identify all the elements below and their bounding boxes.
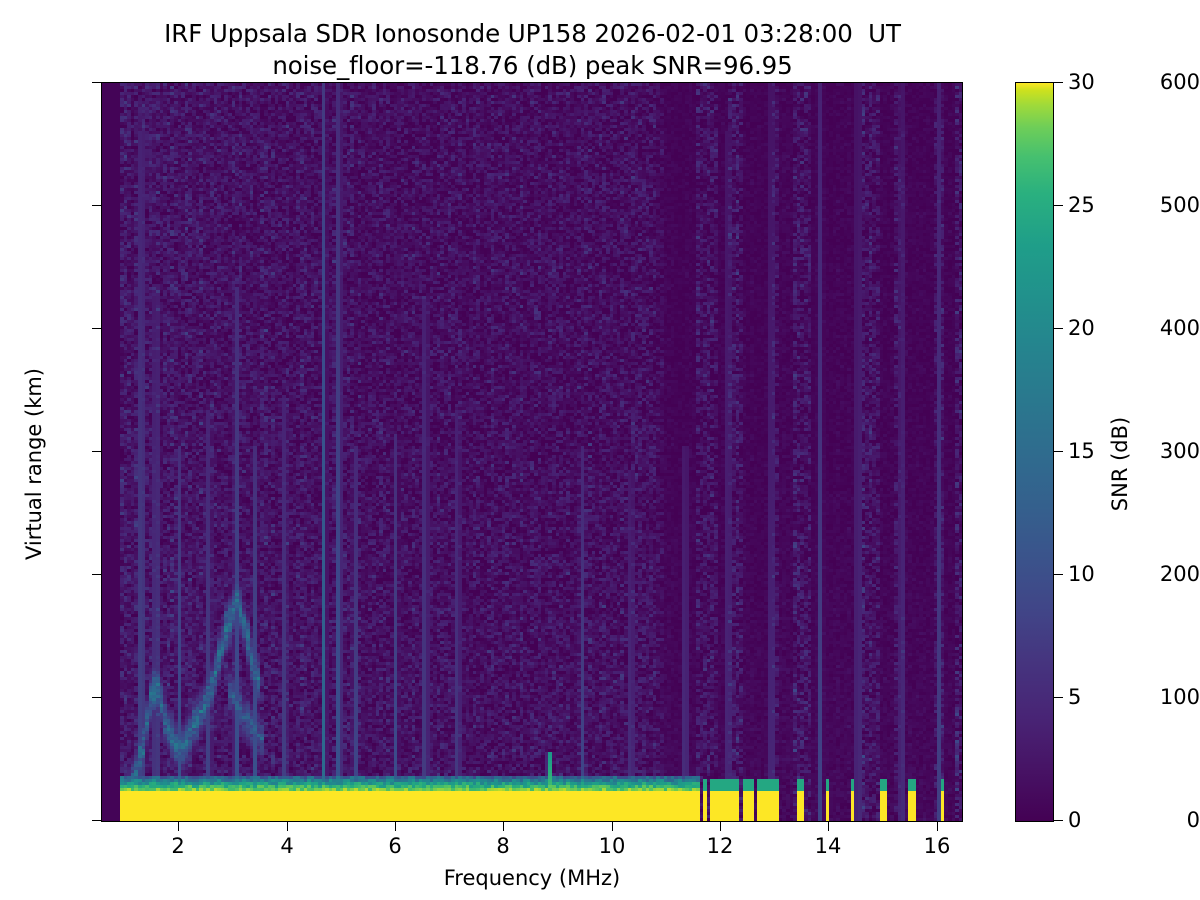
y-tick-400 [92, 328, 101, 329]
colorbar-tick-25 [1054, 205, 1063, 206]
ionogram-heatmap [102, 83, 962, 821]
x-tick-2 [178, 822, 179, 831]
y-tick-label-400: 400 [1138, 318, 1200, 339]
colorbar-label-0: 0 [1068, 810, 1128, 831]
y-axis-label: Virtual range (km) [22, 364, 46, 564]
x-tick-16 [937, 822, 938, 831]
colorbar-tick-0 [1054, 820, 1063, 821]
ionogram-figure: IRF Uppsala SDR Ionosonde UP158 2026-02-… [0, 0, 1200, 900]
colorbar-label-20: 20 [1068, 318, 1128, 339]
colorbar-axis-label: SNR (dB) [1108, 354, 1132, 574]
y-tick-label-300: 300 [1138, 441, 1200, 462]
y-tick-label-0: 0 [1138, 810, 1200, 831]
y-tick-0 [92, 820, 101, 821]
y-tick-label-600: 600 [1138, 72, 1200, 93]
x-tick-10 [612, 822, 613, 831]
x-tick-label-4: 4 [257, 836, 317, 857]
x-tick-label-14: 14 [798, 836, 858, 857]
x-tick-6 [395, 822, 396, 831]
y-tick-label-200: 200 [1138, 564, 1200, 585]
colorbar-tick-15 [1054, 451, 1063, 452]
colorbar-label-5: 5 [1068, 687, 1128, 708]
title-line-secondary: noise_floor=-118.76 (dB) peak SNR=96.95 [0, 50, 1065, 82]
x-tick-label-2: 2 [148, 836, 208, 857]
y-tick-label-500: 500 [1138, 195, 1200, 216]
title-line-primary: IRF Uppsala SDR Ionosonde UP158 2026-02-… [0, 18, 1065, 50]
y-tick-600 [92, 82, 101, 83]
x-tick-label-16: 16 [907, 836, 967, 857]
y-tick-200 [92, 574, 101, 575]
x-tick-label-6: 6 [365, 836, 425, 857]
colorbar-tick-5 [1054, 697, 1063, 698]
x-tick-label-8: 8 [473, 836, 533, 857]
x-tick-label-10: 10 [582, 836, 642, 857]
x-axis-label: Frequency (MHz) [101, 866, 963, 890]
colorbar-label-30: 30 [1068, 72, 1128, 93]
y-tick-500 [92, 205, 101, 206]
x-tick-12 [720, 822, 721, 831]
x-tick-14 [828, 822, 829, 831]
y-tick-300 [92, 451, 101, 452]
colorbar-tick-30 [1054, 82, 1063, 83]
colorbar-tick-20 [1054, 328, 1063, 329]
x-tick-4 [287, 822, 288, 831]
colorbar [1015, 82, 1054, 822]
colorbar-label-25: 25 [1068, 195, 1128, 216]
ionogram-plot-area [101, 82, 963, 822]
figure-title: IRF Uppsala SDR Ionosonde UP158 2026-02-… [0, 18, 1065, 82]
colorbar-tick-10 [1054, 574, 1063, 575]
y-tick-label-100: 100 [1138, 687, 1200, 708]
x-tick-label-12: 12 [690, 836, 750, 857]
x-tick-8 [503, 822, 504, 831]
y-tick-100 [92, 697, 101, 698]
